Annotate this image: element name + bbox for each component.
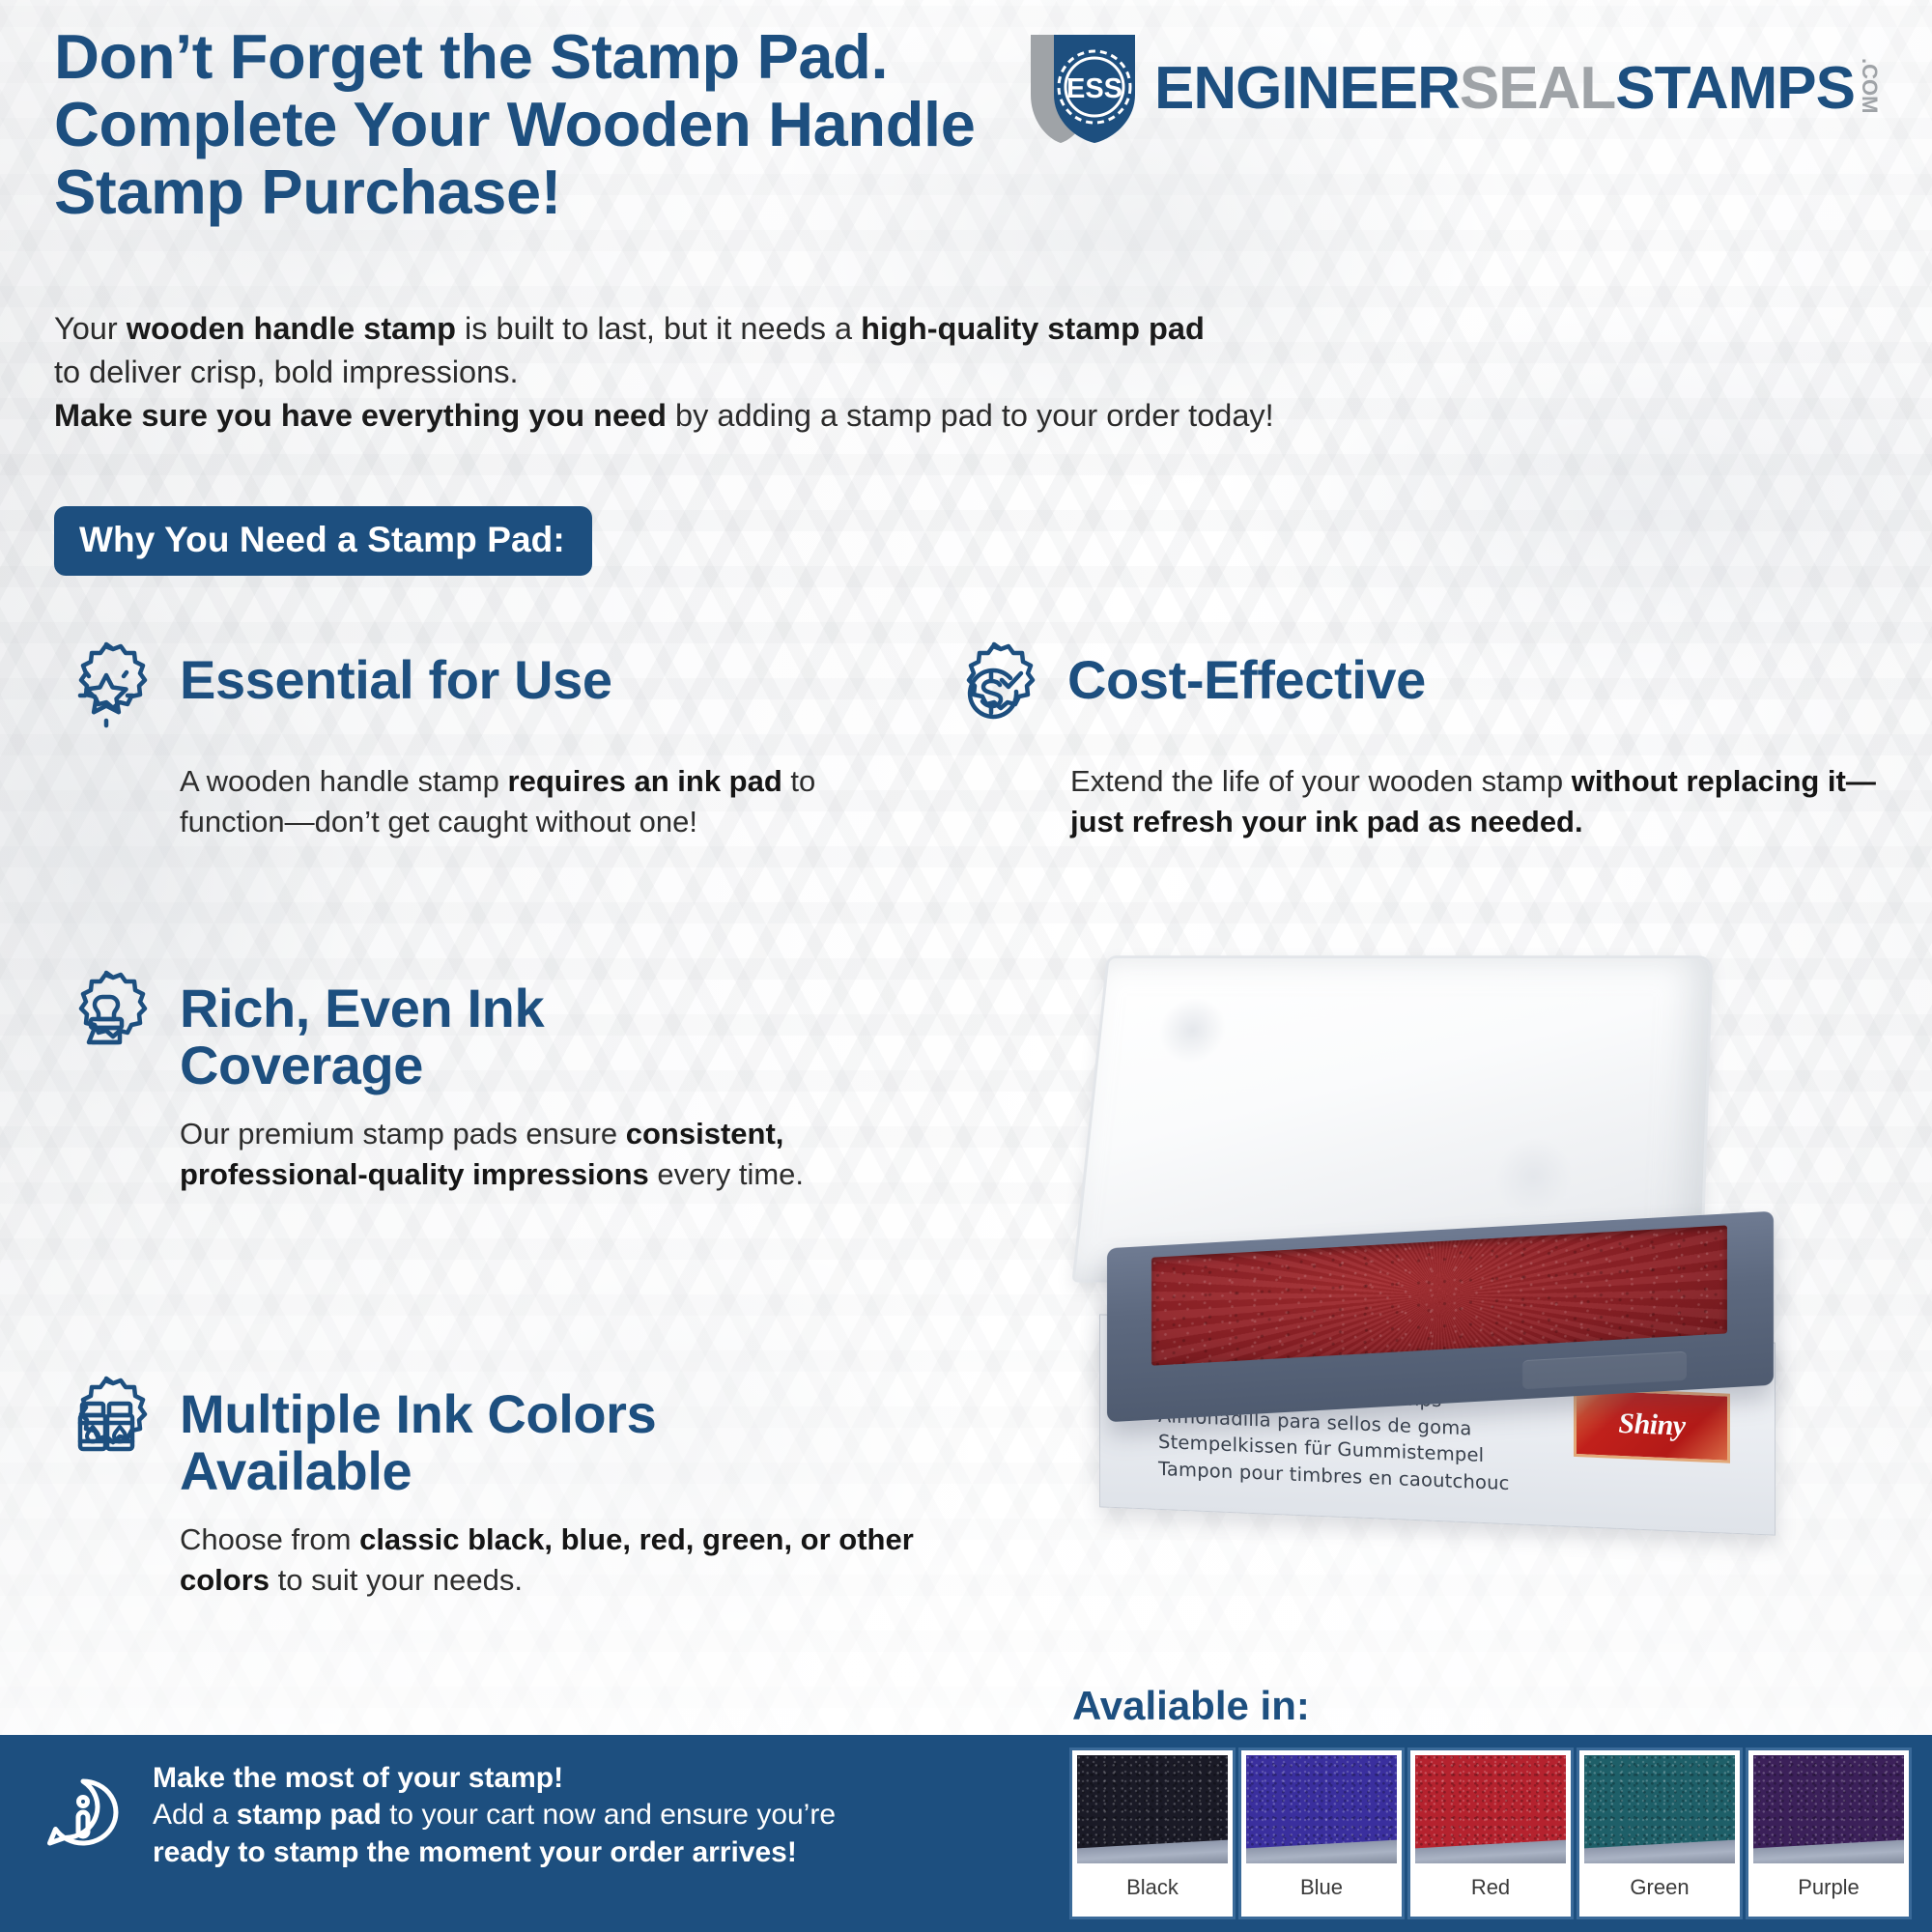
star-badge-icon <box>54 639 158 744</box>
body-a: Extend the life of your wooden stamp <box>1070 764 1572 798</box>
feature-title-line-1: Multiple Ink Colors <box>180 1385 656 1442</box>
body-a: Choose from <box>180 1522 359 1556</box>
swatch-ink-sample <box>1415 1755 1566 1863</box>
color-swatch-black[interactable]: Black <box>1072 1750 1233 1917</box>
feature-title-line-2: Available <box>180 1442 656 1499</box>
red-ink-pad-surface <box>1151 1225 1727 1365</box>
swatch-ink-sample <box>1246 1755 1397 1863</box>
stamp-badge-icon <box>54 968 158 1072</box>
stamp-pad-product-photo: C-5 Stamp pad for rubber stamps Almohadi… <box>1072 952 1835 1570</box>
swatch-label: Purple <box>1753 1863 1904 1912</box>
body-c: every time. <box>649 1157 804 1191</box>
body-a: A wooden handle stamp <box>180 764 508 798</box>
dollar-check-badge-icon <box>942 639 1046 744</box>
intro-paragraph: Your wooden handle stamp is built to las… <box>54 307 1793 438</box>
intro-l3a: Make sure you have everything you need <box>54 398 667 433</box>
intro-l1d: high-quality stamp pad <box>861 311 1205 346</box>
cta-line-1: Make the most of your stamp! <box>153 1762 563 1794</box>
logo-seal: SEAL <box>1460 54 1615 123</box>
logo-engineer: ENGINEER <box>1154 54 1460 123</box>
intro-line-2: to deliver crisp, bold impressions. <box>54 351 1793 394</box>
swatch-label: Blue <box>1246 1863 1397 1912</box>
intro-line-3: Make sure you have everything you need b… <box>54 394 1793 438</box>
color-swatch-red[interactable]: Red <box>1410 1750 1571 1917</box>
swatch-ink-sample <box>1584 1755 1735 1863</box>
logo-dotcom: .COM <box>1859 58 1880 113</box>
available-in-label: Avaliable in: <box>1072 1683 1310 1729</box>
feature-body: A wooden handle stamp requires an ink pa… <box>180 761 895 842</box>
intro-l1a: Your <box>54 311 127 346</box>
body-c: to suit your needs. <box>270 1563 523 1597</box>
feature-body: Choose from classic black, blue, red, gr… <box>180 1520 1010 1601</box>
swatch-label: Green <box>1584 1863 1735 1912</box>
info-bubble-icon <box>39 1772 128 1861</box>
shiny-brand-logo: Shiny <box>1574 1387 1730 1463</box>
logo-stamps: STAMPS <box>1615 54 1855 123</box>
cta-line-2: Add a stamp pad to your cart now and ens… <box>153 1797 836 1833</box>
feature-cost-effective: Cost-Effective Extend the life of your w… <box>942 638 1908 842</box>
cta-line-3: ready to stamp the moment your order arr… <box>153 1836 797 1868</box>
headline-line-3: Stamp Purchase! <box>54 158 1204 226</box>
feature-title: Multiple Ink Colors Available <box>180 1372 656 1500</box>
cta-l2b: stamp pad <box>237 1799 382 1831</box>
logo-wordmark: ENGINEER SEAL STAMPS .COM <box>1154 54 1880 123</box>
feature-rich-even-ink-coverage: Rich, Even Ink Coverage Our premium stam… <box>54 966 895 1195</box>
shiny-brand-name: Shiny <box>1618 1407 1685 1443</box>
brand-logo[interactable]: ESS ENGINEER SEAL STAMPS .COM <box>1021 31 1880 145</box>
intro-l3b: by adding a stamp pad to your order toda… <box>667 398 1274 433</box>
cta-l2a: Add a <box>153 1799 237 1831</box>
ink-bottles-badge-icon <box>54 1374 158 1478</box>
swatch-label: Red <box>1415 1863 1566 1912</box>
intro-l1b: wooden handle stamp <box>127 311 456 346</box>
why-need-banner: Why You Need a Stamp Pad: <box>54 506 592 576</box>
feature-title: Rich, Even Ink Coverage <box>180 966 544 1094</box>
feature-title-line-1: Rich, Even Ink <box>180 980 544 1037</box>
infographic-page: Don’t Forget the Stamp Pad. Complete You… <box>0 0 1932 1932</box>
cta-block: Make the most of your stamp! Add a stamp… <box>39 1760 836 1871</box>
feature-title: Essential for Use <box>180 638 612 708</box>
swatch-label: Black <box>1077 1863 1228 1912</box>
pad-latch-notch <box>1522 1351 1687 1390</box>
feature-title: Cost-Effective <box>1067 638 1426 708</box>
feature-title-line-2: Coverage <box>180 1037 544 1094</box>
cta-text: Make the most of your stamp! Add a stamp… <box>153 1760 836 1871</box>
feature-body: Our premium stamp pads ensure consistent… <box>180 1114 856 1195</box>
color-swatch-green[interactable]: Green <box>1579 1750 1740 1917</box>
feature-essential-for-use: Essential for Use A wooden handle stamp … <box>54 638 895 842</box>
color-swatch-purple[interactable]: Purple <box>1748 1750 1909 1917</box>
body-a: Our premium stamp pads ensure <box>180 1117 626 1151</box>
intro-line-1: Your wooden handle stamp is built to las… <box>54 307 1793 351</box>
cta-l2c: to your cart now and ensure you’re <box>382 1799 836 1831</box>
ess-shield-gear-icon: ESS <box>1021 31 1145 145</box>
header: Don’t Forget the Stamp Pad. Complete You… <box>54 23 1880 227</box>
body-b: requires an ink pad <box>508 764 782 798</box>
swatch-ink-sample <box>1077 1755 1228 1863</box>
svg-text:ESS: ESS <box>1066 73 1122 104</box>
color-swatch-row: BlackBlueRedGreenPurple <box>1072 1750 1909 1917</box>
swatch-ink-sample <box>1753 1755 1904 1863</box>
feature-multiple-ink-colors: Multiple Ink Colors Available Choose fro… <box>54 1372 1030 1601</box>
intro-l1c: is built to last, but it needs a <box>456 311 861 346</box>
feature-body: Extend the life of your wooden stamp wit… <box>1070 761 1882 842</box>
color-swatch-blue[interactable]: Blue <box>1241 1750 1402 1917</box>
